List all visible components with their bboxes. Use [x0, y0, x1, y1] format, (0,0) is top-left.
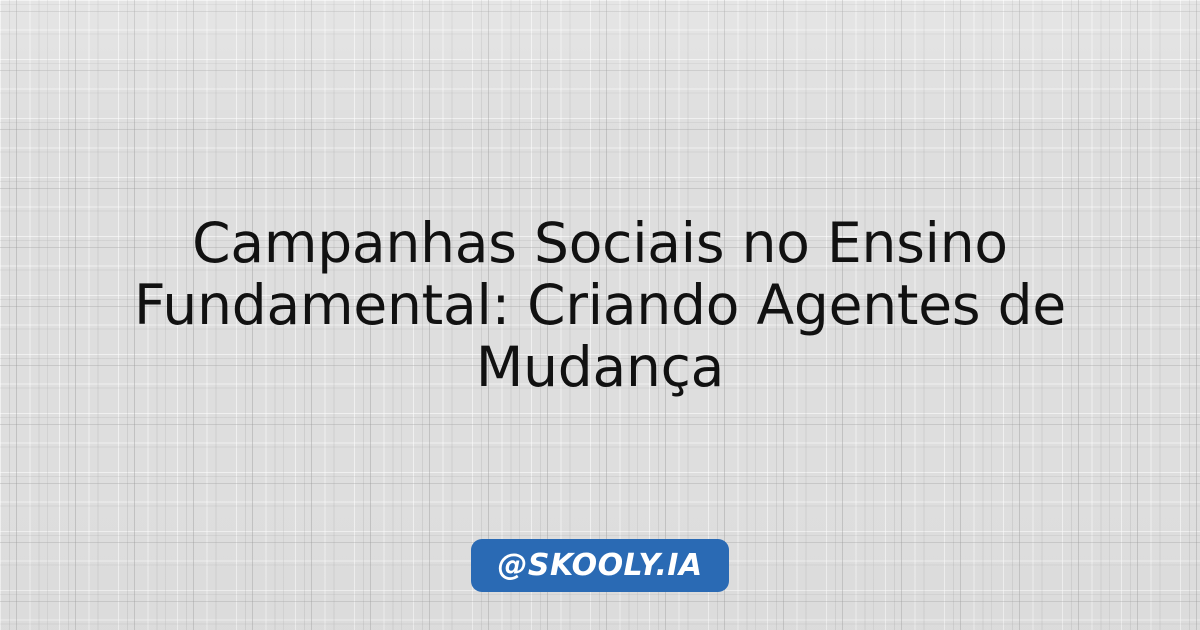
- handle-badge[interactable]: @SKOOLY.IA: [471, 539, 730, 592]
- handle-badge-container: @SKOOLY.IA: [0, 539, 1200, 592]
- card-title: Campanhas Sociais no Ensino Fundamental:…: [50, 212, 1150, 398]
- social-share-card: Campanhas Sociais no Ensino Fundamental:…: [0, 0, 1200, 630]
- card-title-line-2: Fundamental: Criando Agentes de: [134, 273, 1066, 337]
- card-content: Campanhas Sociais no Ensino Fundamental:…: [0, 0, 1200, 630]
- card-title-line-3: Mudança: [476, 335, 724, 399]
- handle-badge-label: @SKOOLY.IA: [498, 551, 703, 581]
- card-title-line-1: Campanhas Sociais no Ensino: [192, 211, 1008, 275]
